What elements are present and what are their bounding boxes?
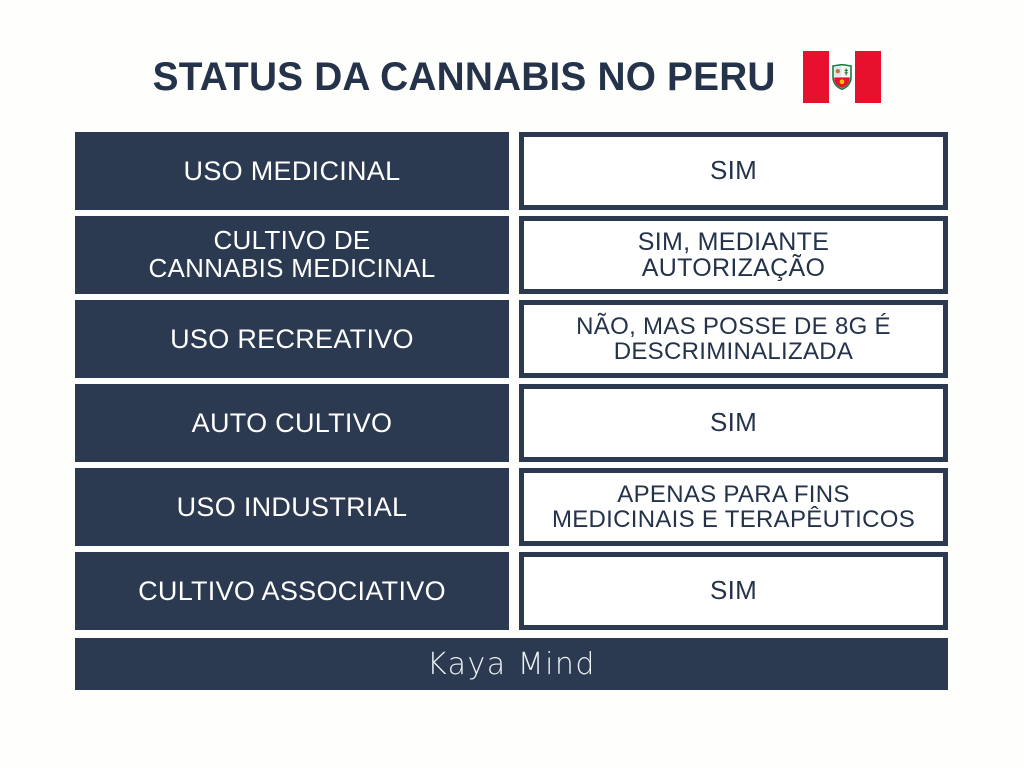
row-label-cell[interactable]: CULTIVO DE CANNABIS MEDICINAL: [75, 216, 509, 294]
row-value-text: SIM: [710, 577, 757, 605]
row-value-text: SIM: [710, 157, 757, 185]
row-value-text: SIM, MEDIANTE AUTORIZAÇÃO: [638, 229, 829, 282]
row-value-cell[interactable]: APENAS PARA FINS MEDICINAIS E TERAPÊUTIC…: [519, 468, 948, 546]
table-row: USO MEDICINAL SIM: [75, 132, 948, 210]
row-value-text: APENAS PARA FINS MEDICINAIS E TERAPÊUTIC…: [552, 482, 915, 533]
infographic-root: STATUS DA CANNABIS NO PERU USO MEDICINAL: [0, 0, 1024, 768]
row-label-text: USO MEDICINAL: [184, 157, 401, 186]
row-value-cell[interactable]: SIM: [519, 552, 948, 630]
table-row: USO INDUSTRIAL APENAS PARA FINS MEDICINA…: [75, 468, 948, 546]
status-table: USO MEDICINAL SIM CULTIVO DE CANNABIS ME…: [75, 132, 948, 636]
row-label-text: USO RECREATIVO: [170, 325, 414, 354]
row-value-text: NÃO, MAS POSSE DE 8G É DESCRIMINALIZADA: [576, 314, 891, 365]
flag-band-right: [855, 51, 881, 103]
row-value-cell[interactable]: NÃO, MAS POSSE DE 8G É DESCRIMINALIZADA: [519, 300, 948, 378]
row-value-cell[interactable]: SIM, MEDIANTE AUTORIZAÇÃO: [519, 216, 948, 294]
row-value-text: SIM: [710, 409, 757, 437]
row-label-text: USO INDUSTRIAL: [177, 493, 408, 522]
table-row: USO RECREATIVO NÃO, MAS POSSE DE 8G É DE…: [75, 300, 948, 378]
header: STATUS DA CANNABIS NO PERU: [0, 46, 1024, 108]
table-row: AUTO CULTIVO SIM: [75, 384, 948, 462]
row-label-cell[interactable]: AUTO CULTIVO: [75, 384, 509, 462]
page-title: STATUS DA CANNABIS NO PERU: [152, 57, 775, 97]
row-value-cell[interactable]: SIM: [519, 384, 948, 462]
table-row: CULTIVO ASSOCIATIVO SIM: [75, 552, 948, 630]
row-label-cell[interactable]: USO INDUSTRIAL: [75, 468, 509, 546]
brand-logo-text: Kaya Mind: [427, 647, 596, 682]
table-row: CULTIVO DE CANNABIS MEDICINAL SIM, MEDIA…: [75, 216, 948, 294]
row-label-cell[interactable]: USO RECREATIVO: [75, 300, 509, 378]
footer-bar: Kaya Mind: [75, 638, 948, 690]
peru-coat-of-arms-icon: [831, 64, 853, 90]
row-label-text: CULTIVO DE CANNABIS MEDICINAL: [148, 227, 435, 282]
row-value-cell[interactable]: SIM: [519, 132, 948, 210]
peru-flag-icon: [803, 51, 881, 103]
row-label-cell[interactable]: CULTIVO ASSOCIATIVO: [75, 552, 509, 630]
row-label-text: CULTIVO ASSOCIATIVO: [138, 577, 446, 606]
row-label-cell[interactable]: USO MEDICINAL: [75, 132, 509, 210]
row-label-text: AUTO CULTIVO: [192, 409, 393, 438]
flag-band-left: [803, 51, 829, 103]
